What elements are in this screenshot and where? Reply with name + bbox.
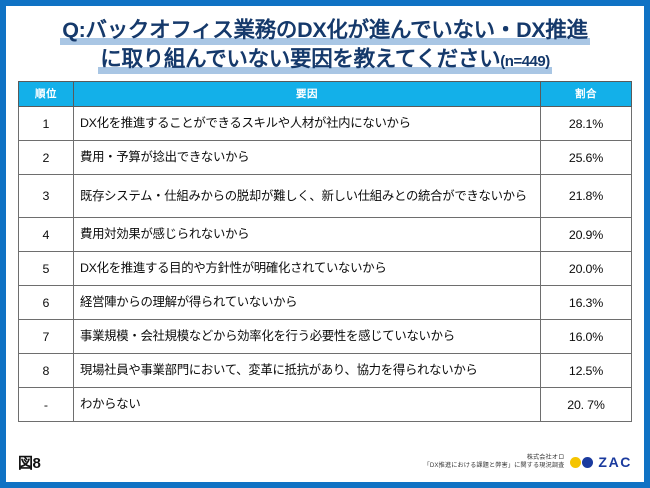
- results-table-wrapper: 順位 要因 割合 1 DX化を推進することができるスキルや人材が社内にないから …: [6, 75, 644, 422]
- credit-survey: 「DX推進における課題と弊害」に関する現況調査: [424, 462, 565, 470]
- cell-percentage: 25.6%: [541, 141, 632, 175]
- cell-reason: DX化を推進する目的や方針性が明確化されていないから: [74, 252, 541, 286]
- title-line-1: Q:バックオフィス業務のDX化が進んでいない・DX推進: [16, 18, 634, 44]
- cell-percentage: 20.9%: [541, 218, 632, 252]
- table-row: 5 DX化を推進する目的や方針性が明確化されていないから 20.0%: [19, 252, 632, 286]
- table-row: 8 現場社員や事業部門において、変革に抵抗があり、協力を得られないから 12.5…: [19, 354, 632, 388]
- table-row: 7 事業規模・会社規模などから効率化を行う必要性を感じていないから 16.0%: [19, 320, 632, 354]
- cell-rank: -: [19, 388, 74, 422]
- cell-rank: 3: [19, 175, 74, 218]
- title-line-2: に取り組んでいない要因を教えてください(n=449): [16, 47, 634, 73]
- cell-percentage: 28.1%: [541, 107, 632, 141]
- cell-percentage: 21.8%: [541, 175, 632, 218]
- column-header-rank: 順位: [19, 82, 74, 107]
- cell-rank: 2: [19, 141, 74, 175]
- table-row: - わからない 20. 7%: [19, 388, 632, 422]
- cell-percentage: 20. 7%: [541, 388, 632, 422]
- column-header-reason: 要因: [74, 82, 541, 107]
- figure-label: 図8: [18, 452, 40, 473]
- cell-rank: 7: [19, 320, 74, 354]
- cell-reason: 現場社員や事業部門において、変革に抵抗があり、協力を得られないから: [74, 354, 541, 388]
- credit-company: 株式会社オロ: [424, 454, 565, 462]
- cell-rank: 1: [19, 107, 74, 141]
- table-row: 4 費用対効果が感じられないから 20.9%: [19, 218, 632, 252]
- cell-rank: 4: [19, 218, 74, 252]
- slide-container: Q:バックオフィス業務のDX化が進んでいない・DX推進 に取り組んでいない要因を…: [0, 0, 650, 488]
- table-header-row: 順位 要因 割合: [19, 82, 632, 107]
- sample-size-label: (n=449): [500, 53, 549, 70]
- zac-logo: ZAC: [570, 454, 632, 470]
- cell-reason: 事業規模・会社規模などから効率化を行う必要性を感じていないから: [74, 320, 541, 354]
- cell-reason: 費用・予算が捻出できないから: [74, 141, 541, 175]
- title-line-2-text: に取り組んでいない要因を教えてください: [100, 47, 500, 71]
- cell-percentage: 16.0%: [541, 320, 632, 354]
- table-row: 2 費用・予算が捻出できないから 25.6%: [19, 141, 632, 175]
- logo-blue-dot-icon: [582, 457, 593, 468]
- cell-rank: 8: [19, 354, 74, 388]
- cell-percentage: 16.3%: [541, 286, 632, 320]
- title-line-1-text: Q:バックオフィス業務のDX化が進んでいない・DX推進: [62, 18, 588, 42]
- cell-reason: 費用対効果が感じられないから: [74, 218, 541, 252]
- logo-yellow-dot-icon: [570, 457, 581, 468]
- table-body: 1 DX化を推進することができるスキルや人材が社内にないから 28.1% 2 費…: [19, 107, 632, 422]
- page-title: Q:バックオフィス業務のDX化が進んでいない・DX推進 に取り組んでいない要因を…: [6, 6, 644, 75]
- footer-right: 株式会社オロ 「DX推進における課題と弊害」に関する現況調査 ZAC: [424, 454, 632, 470]
- cell-reason: DX化を推進することができるスキルや人材が社内にないから: [74, 107, 541, 141]
- table-row: 3 既存システム・仕組みからの脱却が難しく、新しい仕組みとの統合ができないから …: [19, 175, 632, 218]
- cell-reason: わからない: [74, 388, 541, 422]
- cell-rank: 6: [19, 286, 74, 320]
- cell-rank: 5: [19, 252, 74, 286]
- cell-percentage: 12.5%: [541, 354, 632, 388]
- cell-reason: 経営陣からの理解が得られていないから: [74, 286, 541, 320]
- cell-percentage: 20.0%: [541, 252, 632, 286]
- slide-inner: Q:バックオフィス業務のDX化が進んでいない・DX推進 に取り組んでいない要因を…: [6, 6, 644, 482]
- table-row: 6 経営陣からの理解が得られていないから 16.3%: [19, 286, 632, 320]
- credit-block: 株式会社オロ 「DX推進における課題と弊害」に関する現況調査: [424, 454, 565, 470]
- footer: 図8 株式会社オロ 「DX推進における課題と弊害」に関する現況調査 ZAC: [6, 442, 644, 482]
- table-head: 順位 要因 割合: [19, 82, 632, 107]
- cell-reason: 既存システム・仕組みからの脱却が難しく、新しい仕組みとの統合ができないから: [74, 175, 541, 218]
- table-row: 1 DX化を推進することができるスキルや人材が社内にないから 28.1%: [19, 107, 632, 141]
- logo-wordmark: ZAC: [598, 454, 632, 470]
- results-table: 順位 要因 割合 1 DX化を推進することができるスキルや人材が社内にないから …: [18, 81, 632, 422]
- column-header-percentage: 割合: [541, 82, 632, 107]
